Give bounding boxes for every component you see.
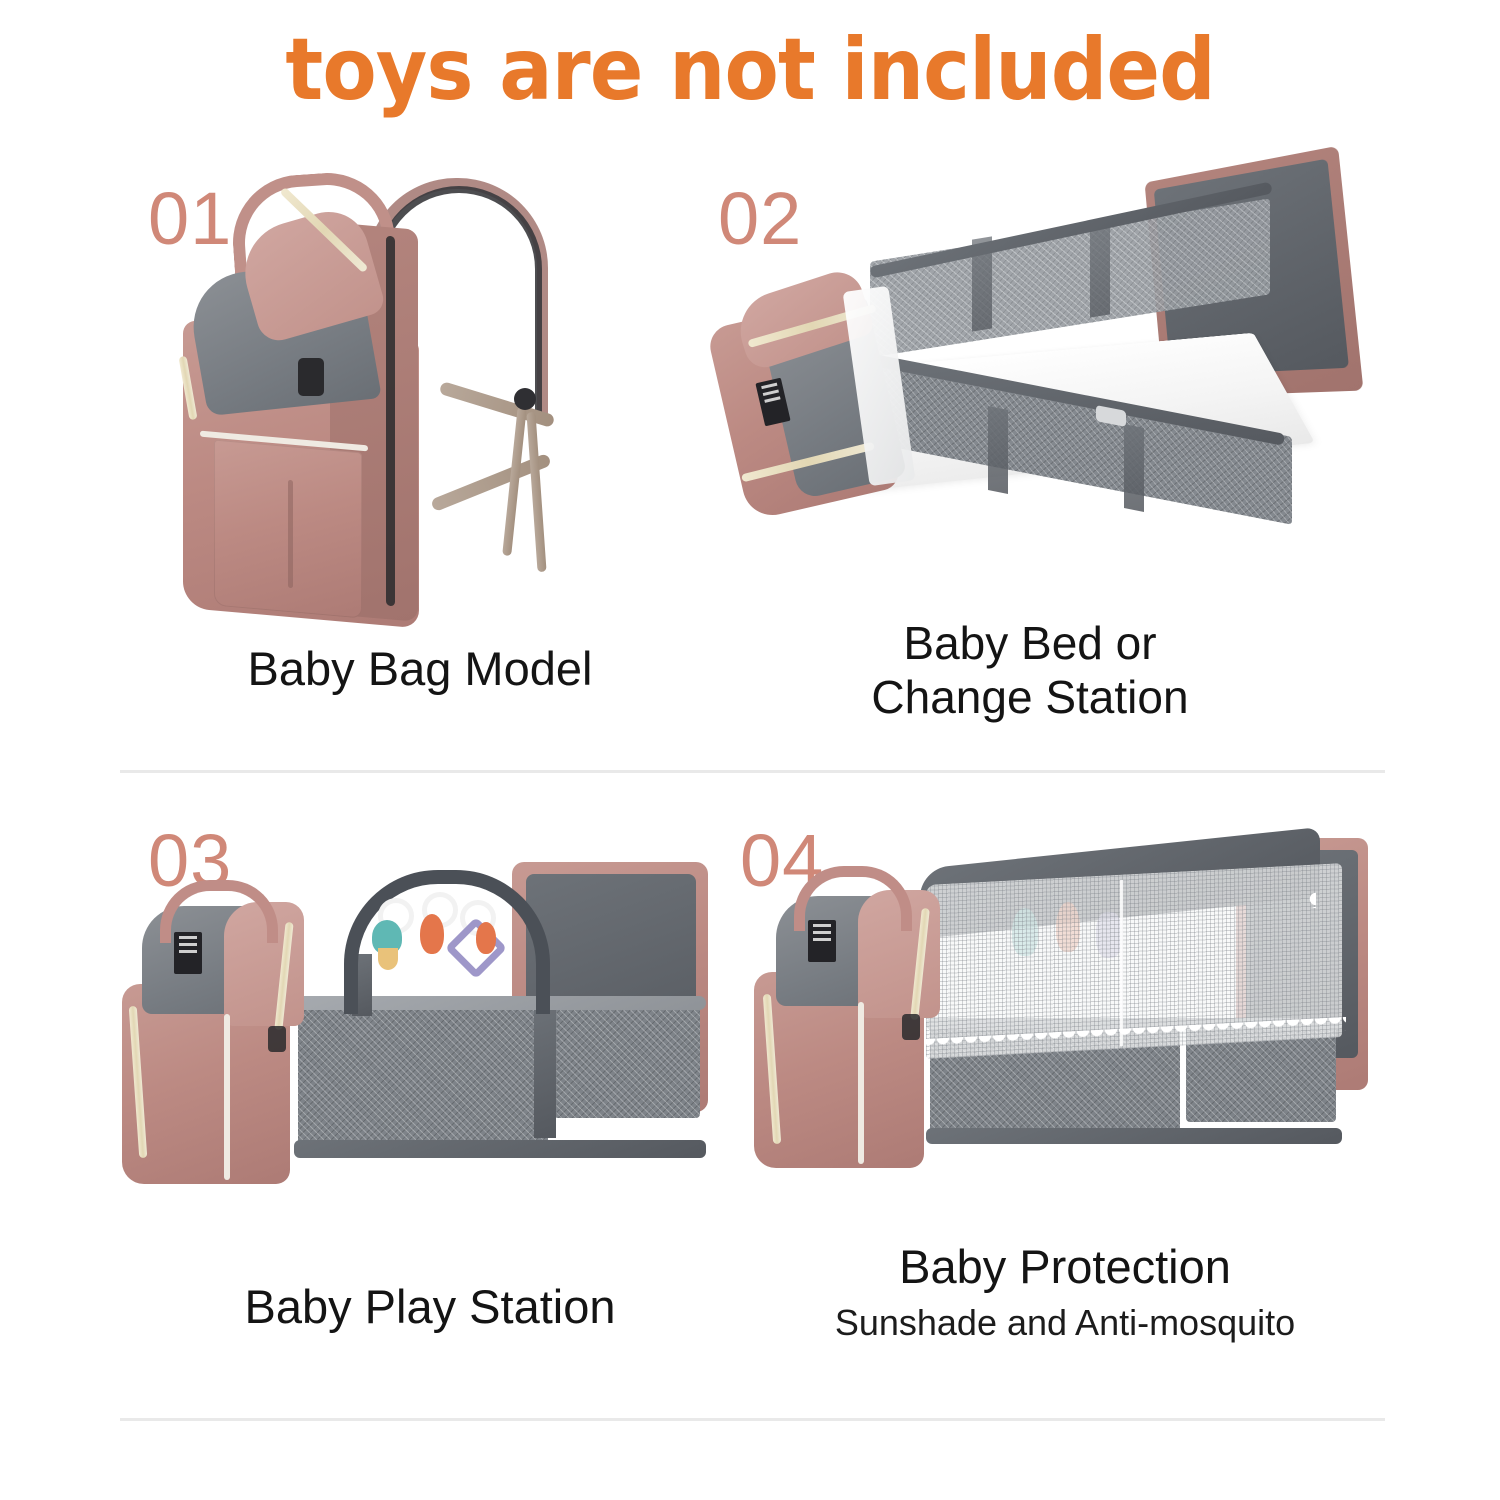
- toy-orange-small: [476, 922, 496, 954]
- section-divider-top: [120, 770, 1385, 773]
- product-image-unfolded-bassinet: [720, 158, 1360, 608]
- panel-caption-01: Baby Bag Model: [120, 642, 720, 696]
- panel-caption-02-line2: Change Station: [700, 670, 1360, 724]
- net-lace-trim-right-edge: [1166, 892, 1316, 908]
- product-infographic: toys are not included 01: [0, 0, 1500, 1500]
- bag-pocket-edge: [224, 1014, 230, 1180]
- panel-baby-bed-change-station[interactable]: 02: [700, 150, 1360, 770]
- playstation-mesh-side-back: [554, 998, 700, 1118]
- panel-caption-02-line1: Baby Bed or: [700, 616, 1360, 670]
- brand-tag: [174, 932, 202, 974]
- bag-pocket-edge: [858, 1002, 864, 1164]
- panel-caption-03: Baby Play Station: [120, 1280, 740, 1334]
- panel-baby-protection[interactable]: 04: [740, 810, 1390, 1410]
- toy-orange: [420, 914, 444, 954]
- feature-panel-grid: 01: [0, 150, 1500, 1440]
- near-wall-support-strap-b: [1124, 424, 1144, 512]
- header-notice-banner: toys are not included: [0, 22, 1500, 118]
- product-image-play-station: [120, 858, 740, 1268]
- net-seam-vertical: [1120, 880, 1123, 1046]
- usb-port: [902, 1014, 920, 1040]
- product-image-side-view-backpack: [180, 160, 650, 640]
- pocket-seam: [288, 480, 293, 588]
- far-wall-support-strap-b: [1090, 222, 1110, 317]
- back-panel-trim: [386, 236, 395, 607]
- panel-baby-play-station[interactable]: 03: [120, 810, 740, 1410]
- brand-tag: [808, 920, 836, 962]
- near-wall-support-strap-a: [988, 406, 1008, 494]
- strap-slider: [514, 388, 536, 410]
- playstation-bottom-rail: [294, 1140, 706, 1158]
- section-divider-bottom: [120, 1418, 1385, 1421]
- toy-teal-yellow-tip: [378, 948, 398, 970]
- playstation-mesh-side-front: [298, 1008, 548, 1150]
- panel-caption-04: Baby Protection: [740, 1240, 1390, 1294]
- panel-baby-bag-model[interactable]: 01: [120, 150, 720, 770]
- toys-not-included-notice: toys are not included: [285, 22, 1214, 118]
- buckle-clip: [298, 358, 324, 396]
- protection-bottom-rail: [926, 1128, 1342, 1144]
- usb-port: [268, 1026, 286, 1052]
- playstation-center-post: [534, 998, 556, 1138]
- panel-subcaption-04: Sunshade and Anti-mosquito: [740, 1302, 1390, 1344]
- product-image-mosquito-net-canopy: [750, 832, 1390, 1232]
- strap-tail-right: [526, 412, 546, 572]
